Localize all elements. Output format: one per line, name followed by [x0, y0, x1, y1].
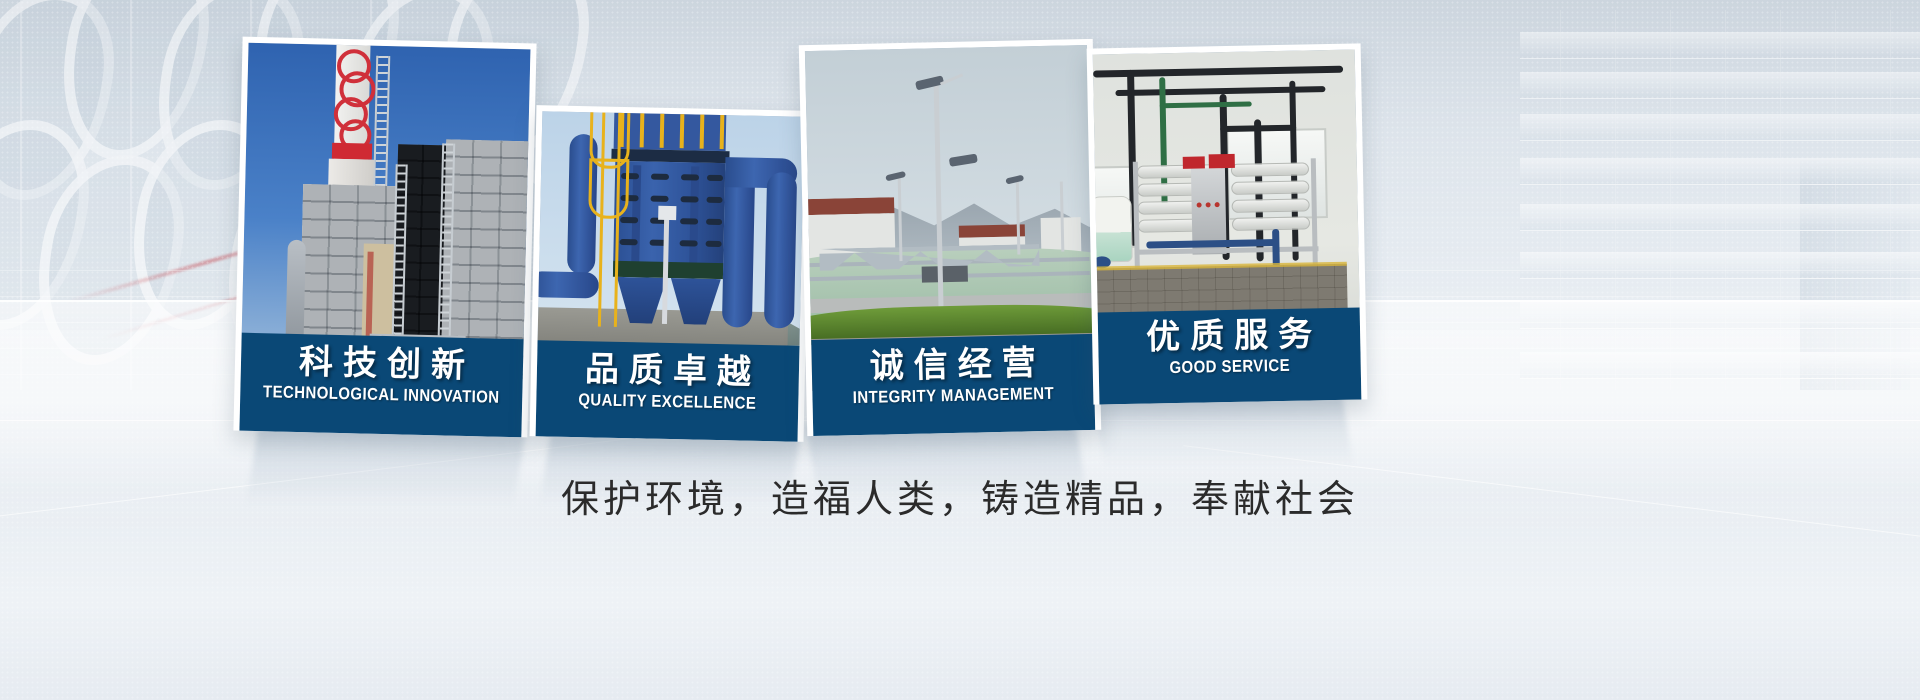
feature-panel-integrity-management[interactable]: 诚信经营 INTEGRITY MANAGEMENT: [799, 39, 1101, 436]
panel-caption-good-service: 优质服务 GOOD SERVICE: [1098, 307, 1362, 404]
panel-reflection-4: [1092, 396, 1353, 468]
panel-title-en-3: INTEGRITY MANAGEMENT: [829, 384, 1078, 409]
panel-photo-good-service: 优质服务 GOOD SERVICE: [1093, 50, 1362, 405]
panel-title-cn-4: 优质服务: [1098, 315, 1361, 357]
panel-title-en-1: TECHNOLOGICAL INNOVATION: [257, 382, 506, 407]
panel-photo-technological-innovation: 科技创新 TECHNOLOGICAL INNOVATION: [239, 43, 530, 438]
banner-stage: 科技创新 TECHNOLOGICAL INNOVATION: [0, 0, 1920, 700]
panel-title-cn-3: 诚信经营: [811, 344, 1094, 388]
panel-photo-quality-excellence: 品质卓越 QUALITY EXCELLENCE: [536, 111, 805, 441]
panel-title-en-4: GOOD SERVICE: [1114, 355, 1345, 379]
banner-tagline: 保护环境，造福人类，铸造精品，奉献社会: [0, 468, 1920, 523]
panel-title-en-2: QUALITY EXCELLENCE: [552, 390, 783, 414]
feature-panel-quality-excellence[interactable]: 品质卓越 QUALITY EXCELLENCE: [530, 105, 811, 442]
panel-title-cn-2: 品质卓越: [537, 350, 800, 393]
feature-panel-good-service[interactable]: 优质服务 GOOD SERVICE: [1087, 43, 1368, 404]
panel-photo-integrity-management: 诚信经营 INTEGRITY MANAGEMENT: [805, 45, 1095, 436]
feature-panel-technological-innovation[interactable]: 科技创新 TECHNOLOGICAL INNOVATION: [233, 37, 536, 438]
panel-caption-quality-excellence: 品质卓越 QUALITY EXCELLENCE: [536, 340, 800, 441]
panel-caption-technological-innovation: 科技创新 TECHNOLOGICAL INNOVATION: [239, 333, 523, 438]
panel-caption-integrity-management: 诚信经营 INTEGRITY MANAGEMENT: [811, 334, 1095, 436]
panel-title-cn-1: 科技创新: [241, 343, 524, 387]
